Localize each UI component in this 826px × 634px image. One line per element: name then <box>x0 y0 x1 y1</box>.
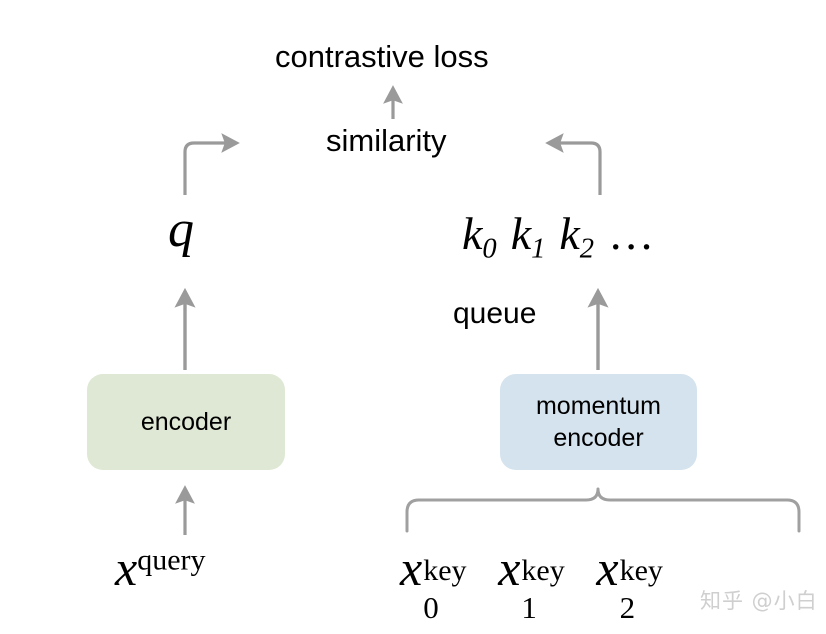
xkey-base-1: x <box>498 540 520 596</box>
key-subscript-0: 0 <box>482 234 496 265</box>
encoder-box[interactable]: encoder <box>87 374 285 470</box>
key-symbol-0: k <box>462 208 482 259</box>
connectors-layer <box>0 0 826 634</box>
xkey-superscript-0: key <box>423 554 466 589</box>
xquery-superscript: query <box>137 543 205 576</box>
query-elbow-arrow <box>185 143 236 195</box>
key-representation-0: k0 <box>462 207 497 259</box>
key-symbol-1: k <box>511 208 531 259</box>
keys-brace <box>407 489 799 531</box>
key-representation-1: k1 <box>511 207 546 259</box>
xquery-base: x <box>115 540 137 596</box>
key-representation-2: k2 <box>559 207 594 259</box>
key-elbow-arrow <box>549 143 600 195</box>
key-input-1: xkey1 <box>498 540 554 596</box>
momentum-encoder-box-label: momentum encoder <box>536 390 661 454</box>
xkey-superscript-1: key <box>521 554 564 589</box>
key-inputs-row: xkey0xkey1xkey2 <box>400 540 661 598</box>
key-representations-ellipsis: … <box>608 208 654 259</box>
momentum-encoder-line-2: encoder <box>553 424 643 452</box>
key-input-0: xkey0 <box>400 540 456 596</box>
key-symbol-2: k <box>559 208 579 259</box>
xkey-base-0: x <box>400 540 422 596</box>
xkey-subscript-0: 0 <box>423 590 439 626</box>
momentum-encoder-box[interactable]: momentum encoder <box>500 374 697 470</box>
similarity-label: similarity <box>326 123 447 159</box>
key-input-2: xkey2 <box>596 540 618 596</box>
watermark: 知乎 @小白 <box>700 585 818 615</box>
xkey-base-2: x <box>596 540 618 596</box>
key-subscript-1: 1 <box>531 234 545 265</box>
key-representations-row: k0k1k2… <box>462 207 654 266</box>
momentum-encoder-line-1: momentum <box>536 392 661 420</box>
xkey-subscript-1: 1 <box>521 590 537 626</box>
encoder-box-label: encoder <box>141 406 231 438</box>
key-subscript-2: 2 <box>580 234 594 265</box>
query-representation-symbol: q <box>168 200 194 260</box>
contrastive-loss-label: contrastive loss <box>275 39 489 75</box>
moco-diagram: contrastive loss similarity queue q k0k1… <box>0 0 826 634</box>
xkey-subscript-2: 2 <box>620 590 636 626</box>
xkey-superscript-2: key <box>620 554 663 589</box>
queue-label: queue <box>453 297 536 332</box>
query-input-symbol: xquery <box>115 540 206 598</box>
